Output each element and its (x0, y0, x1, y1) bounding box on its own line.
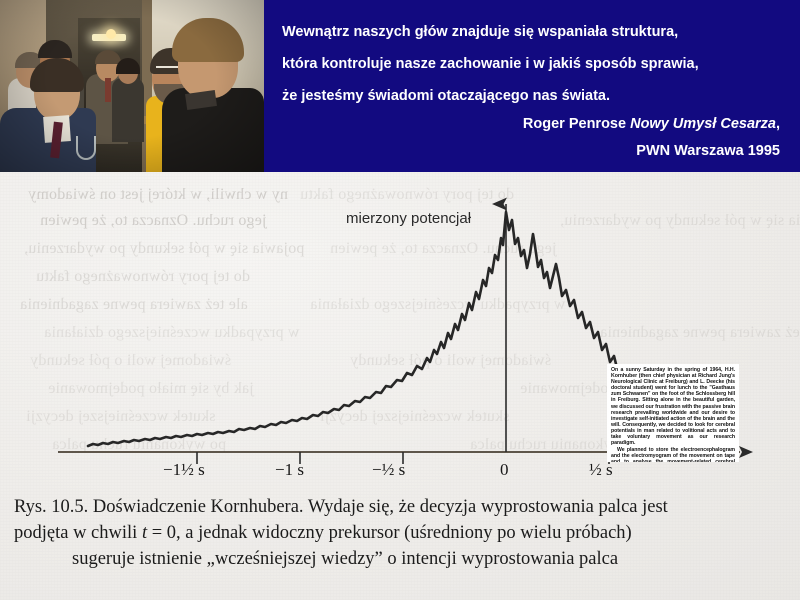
caption-line-2-a: podjęta w chwili (14, 523, 142, 543)
x-tick-label-plus-0-5: ½ s (589, 460, 613, 480)
quote-author: Roger Penrose (523, 116, 630, 132)
x-tick-label-zero: 0 (500, 460, 509, 480)
x-tick-label-minus-0-5: −½ s (372, 460, 405, 480)
quote-attribution: Roger Penrose Nowy Umysł Cesarza, (523, 116, 780, 132)
quote-line-3: że jesteśmy świadomi otaczającego nas św… (282, 88, 610, 104)
slide-root: ny w chwili, w której jest on świadomy j… (0, 0, 800, 600)
quote-attribution-comma: , (776, 116, 780, 132)
caption-line-1: Rys. 10.5. Doświadczenie Kornhubera. Wyd… (14, 494, 668, 520)
photo-vignette (0, 0, 264, 172)
quote-publisher: PWN Warszawa 1995 (636, 143, 780, 159)
x-tick-label-minus-1: −1 s (275, 460, 304, 480)
inset-paragraph-1: On a sunny Saturday in the spring of 196… (611, 367, 735, 446)
quote-line-2: która kontroluje nasze zachowanie i w ja… (282, 56, 699, 72)
inset-paragraph-2: We planned to store the electroencephalo… (611, 447, 735, 462)
inset-kornhuber-note: On a sunny Saturday in the spring of 196… (607, 364, 739, 462)
figure-caption: Rys. 10.5. Doświadczenie Kornhubera. Wyd… (0, 494, 800, 574)
quote-band: Wewnątrz naszych głów znajduje się wspan… (264, 0, 800, 172)
quote-book-title: Nowy Umysł Cesarza (630, 116, 776, 132)
figure-kornhuber-experiment: mierzony potencjał czas −1½ s −1 s −½ s … (0, 172, 800, 490)
x-tick-label-minus-1-5: −1½ s (163, 460, 205, 480)
caption-line-3: sugeruje istnienie „wcześniejszej wiedzy… (72, 546, 618, 572)
y-axis-label: mierzony potencjał (346, 210, 471, 227)
quote-line-1: Wewnątrz naszych głów znajduje się wspan… (282, 24, 678, 40)
caption-line-2: podjęta w chwili t = 0, a jednak widoczn… (14, 520, 632, 546)
caption-line-2-b: = 0, a jednak widoczny prekursor (uśredn… (147, 523, 632, 543)
conference-photo (0, 0, 264, 172)
